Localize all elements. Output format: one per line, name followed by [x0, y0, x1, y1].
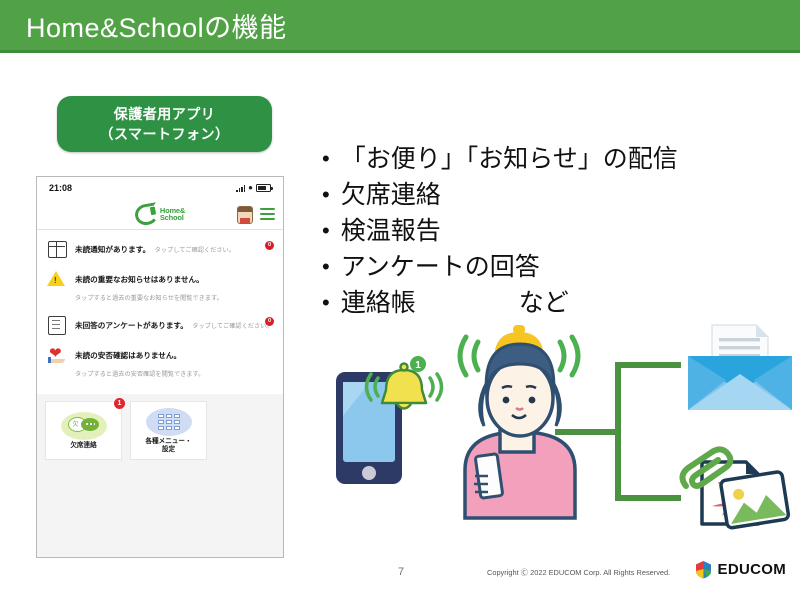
label-line-1: 保護者用アプリ — [114, 104, 216, 124]
svg-text:1: 1 — [415, 360, 421, 371]
notification-text: 未読通知があります。 タップしてご確認ください。 — [75, 239, 273, 257]
grid-menu-icon — [146, 408, 192, 436]
bullet-text: 連絡帳 — [341, 286, 416, 320]
copyright-text: Copyright Ⓒ 2022 EDUCOM Corp. All Rights… — [487, 567, 670, 578]
slide-root: Home&Schoolの機能 保護者用アプリ （スマートフォン） 21:08 ●… — [0, 0, 800, 600]
package-box-icon — [46, 239, 68, 259]
quick-action-tiles: 1 欠席連絡 各種メニュー・ 設定 — [37, 394, 283, 468]
sound-wave-right — [430, 374, 442, 400]
tile-label-line-2: 設定 — [162, 446, 175, 453]
checklist-icon — [46, 315, 68, 335]
educom-logo-text: EDUCOM — [718, 561, 786, 578]
list-item: • アンケートの回答 — [322, 250, 722, 284]
notification-subtitle: タップすると過去の安否確認を閲覧できます。 — [75, 371, 204, 378]
avatar-icon[interactable] — [237, 206, 253, 224]
tile-menu-settings[interactable]: 各種メニュー・ 設定 — [130, 401, 207, 460]
parent-app-label: 保護者用アプリ （スマートフォン） — [57, 96, 272, 152]
phone-empty-area — [37, 468, 283, 558]
status-badge: 0 — [265, 241, 274, 250]
notification-title: 未読の安否確認はありません。 — [75, 351, 181, 360]
logo-text: Home& School — [160, 207, 185, 222]
home-school-logo: Home& School — [135, 204, 185, 225]
feature-bullet-list: • 「お便り」「お知らせ」の配信 • 欠席連絡 • 検温報告 • アンケートの回… — [322, 142, 722, 322]
bullet-dot-icon: • — [322, 142, 330, 176]
bullet-dot-icon: • — [322, 250, 330, 284]
phone-mockup: 21:08 ● Home& School 未読通知があ — [36, 176, 284, 558]
status-indicators: ● — [236, 184, 271, 192]
signal-bars-icon — [236, 185, 245, 192]
header-band-edge — [0, 50, 800, 53]
bullet-text: アンケートの回答 — [341, 250, 540, 284]
feature-illustration: 1 — [330, 320, 800, 545]
notification-row[interactable]: 未読の重要なお知らせはありません。 タップすると過去の重要なお知らせを閲覧できま… — [37, 264, 283, 310]
list-item: • 検温報告 — [322, 214, 722, 248]
envelope-with-letter-icon — [688, 325, 792, 410]
tile-badge: 1 — [114, 398, 125, 409]
notification-row[interactable]: 未読通知があります。 タップしてご確認ください。 0 — [37, 234, 283, 264]
educom-logo: EDUCOM — [694, 560, 786, 579]
image-thumbnail-icon — [720, 471, 789, 528]
list-item: • 連絡帳 など — [322, 286, 722, 320]
educom-logo-icon — [694, 560, 713, 579]
notification-title: 未回答のアンケートがあります。 — [75, 321, 188, 330]
notification-text: 未読の安否確認はありません。 タップすると過去の安否確認を閲覧できます。 — [75, 345, 273, 381]
hamburger-menu-icon[interactable] — [260, 208, 275, 223]
tile-label: 欠席連絡 — [70, 442, 96, 450]
notification-text: 未回答のアンケートがあります。 タップしてご確認ください。 — [75, 315, 273, 333]
bullet-dot-icon: • — [322, 286, 330, 320]
status-time: 21:08 — [49, 183, 72, 193]
bullet-tail-text: など — [519, 286, 569, 320]
warning-triangle-icon — [46, 269, 68, 289]
notification-text: 未読の重要なお知らせはありません。 タップすると過去の重要なお知らせを閲覧できま… — [75, 269, 273, 305]
illustration-svg: 1 — [330, 320, 800, 545]
page-title: Home&Schoolの機能 — [26, 6, 287, 45]
notification-subtitle: タップすると過去の重要なお知らせを閲覧できます。 — [75, 295, 223, 302]
status-badge: 0 — [265, 317, 274, 326]
notification-list: 未読通知があります。 タップしてご確認ください。 0 未読の重要なお知らせはあり… — [37, 230, 283, 388]
phone-status-bar: 21:08 ● — [37, 177, 283, 199]
logo-line-2: School — [160, 214, 185, 222]
bullet-text: 欠席連絡 — [341, 178, 441, 212]
list-item: • 欠席連絡 — [322, 178, 722, 212]
phone-app-bar: Home& School — [37, 199, 283, 230]
bullet-text: 検温報告 — [341, 214, 441, 248]
wifi-icon: ● — [248, 184, 253, 192]
bullet-dot-icon: • — [322, 214, 330, 248]
notification-title: 未読の重要なお知らせはありません。 — [75, 275, 204, 284]
battery-icon — [256, 184, 271, 192]
bullet-dot-icon: • — [322, 178, 330, 212]
tile-label-line-1: 各種メニュー・ — [145, 438, 191, 445]
tile-absence-contact[interactable]: 1 欠席連絡 — [45, 401, 122, 460]
attachment-files-icon — [682, 449, 789, 528]
notification-subtitle: タップしてご確認ください。 — [192, 323, 272, 330]
bullet-text: 「お便り」「お知らせ」の配信 — [341, 142, 678, 176]
tile-label: 各種メニュー・ 設定 — [145, 438, 191, 454]
page-number: 7 — [398, 566, 404, 578]
label-line-2: （スマートフォン） — [99, 124, 229, 144]
list-item: • 「お便り」「お知らせ」の配信 — [322, 142, 722, 176]
speech-bubbles-icon — [61, 412, 107, 440]
notification-row[interactable]: ❤ 未読の安否確認はありません。 タップすると過去の安否確認を閲覧できます。 — [37, 340, 283, 386]
notification-subtitle: タップしてご確認ください。 — [155, 247, 235, 254]
notification-title: 未読通知があります。 — [75, 245, 150, 254]
logo-mark-icon — [133, 202, 159, 227]
notification-row[interactable]: 未回答のアンケートがあります。 タップしてご確認ください。 0 — [37, 310, 283, 340]
heart-in-hand-icon: ❤ — [46, 345, 68, 365]
